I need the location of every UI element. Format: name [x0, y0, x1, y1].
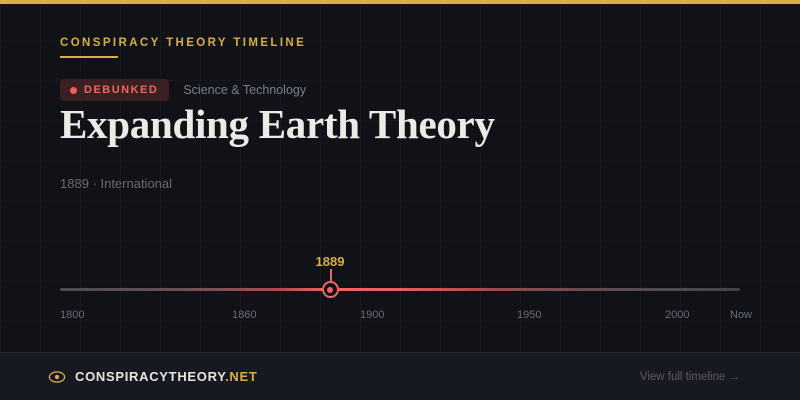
timeline-track[interactable] [60, 288, 740, 291]
timeline-tick-1860: 1860 [232, 309, 256, 321]
brand-name-main: CONSPIRACYTHEORY [75, 369, 225, 384]
eyebrow-label: CONSPIRACY THEORY TIMELINE [60, 37, 306, 49]
view-full-timeline-link[interactable]: View full timeline → [640, 371, 740, 383]
status-dot-icon [70, 87, 77, 94]
status-badge-label: DEBUNKED [84, 84, 158, 96]
timeline-tick-1800: 1800 [60, 309, 84, 321]
eye-icon [48, 370, 66, 384]
brand-name: CONSPIRACYTHEORY.NET [75, 369, 258, 384]
tag-row: DEBUNKED Science & Technology [60, 79, 306, 101]
top-accent-bar [0, 0, 800, 4]
timeline-marker-core [327, 287, 333, 293]
page-title: Expanding Earth Theory [60, 100, 495, 148]
brand-name-tld: .NET [225, 369, 257, 384]
timeline-tick-2000: 2000 [665, 309, 689, 321]
timeline-tick-1950: 1950 [517, 309, 541, 321]
status-badge: DEBUNKED [60, 79, 169, 101]
eyebrow-underline [60, 56, 118, 58]
background-grid [0, 0, 800, 400]
meta-line: 1889 · International [60, 176, 172, 191]
timeline-marker-year: 1889 [308, 254, 352, 269]
brand-logo[interactable]: CONSPIRACYTHEORY.NET [48, 369, 258, 384]
timeline-tick-now: Now [730, 309, 752, 321]
conspiracy-timeline-card: CONSPIRACY THEORY TIMELINE DEBUNKED Scie… [0, 0, 800, 400]
timeline-tick-1900: 1900 [360, 309, 384, 321]
category-label: Science & Technology [183, 83, 306, 97]
footer-bar: CONSPIRACYTHEORY.NET View full timeline … [0, 352, 800, 400]
